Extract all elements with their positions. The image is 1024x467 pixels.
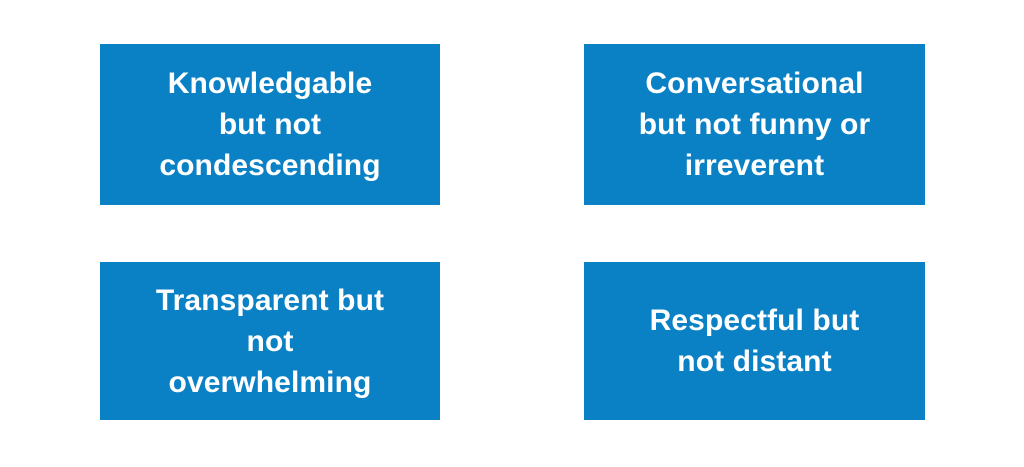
principle-card-label: Respectful but not distant xyxy=(650,300,860,382)
principle-card-conversational: Conversational but not funny or irrevere… xyxy=(584,44,925,205)
principle-card-knowledgable: Knowledgable but not condescending xyxy=(100,44,440,205)
principle-card-respectful: Respectful but not distant xyxy=(584,262,925,420)
principle-card-label: Transparent but not overwhelming xyxy=(156,280,384,403)
principle-card-label: Knowledgable but not condescending xyxy=(159,63,380,186)
principle-card-transparent: Transparent but not overwhelming xyxy=(100,262,440,420)
principles-board: Knowledgable but not condescending Conve… xyxy=(0,0,1024,467)
principle-card-label: Conversational but not funny or irrevere… xyxy=(639,63,871,186)
